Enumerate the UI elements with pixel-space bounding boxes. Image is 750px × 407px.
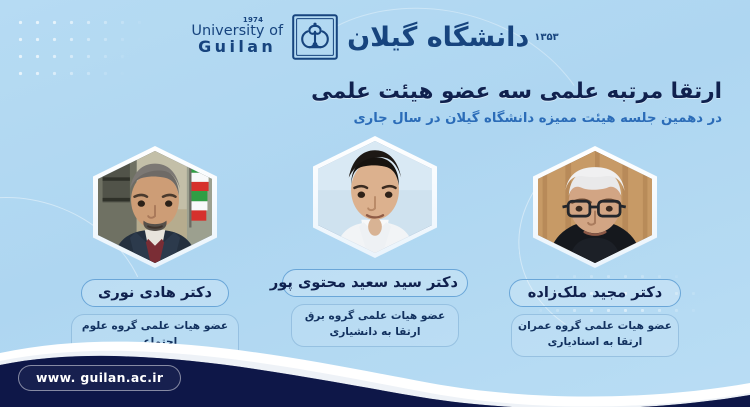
person-role-line1: عضو هیات علمی گروه برق [305,310,445,322]
page-title: ارتقا مرتبه علمی سه عضو هیئت علمی [22,78,722,106]
logo-founded-year-gregorian: 1974 [243,17,263,24]
photo-frame [533,146,657,268]
person-name: دکتر مجید ملک‌زاده [509,279,681,307]
guilan-emblem-icon [292,14,338,60]
photo-frame [313,136,437,258]
logo-persian-name: دانشگاه گیلان [347,24,529,51]
person-card: دکتر سید سعید محتوی پور عضو هیات علمی گر… [284,136,466,347]
university-logo: 1974 University of Guilan ۱۳۵۳ دانشگاه گ… [0,7,750,67]
poster-canvas: 1974 University of Guilan ۱۳۵۳ دانشگاه گ… [0,0,750,407]
page-subtitle: در دهمین جلسه هیئت ممیزه دانشگاه گیلان د… [22,110,722,127]
logo-english-line2: Guilan [191,39,283,56]
title-block: ارتقا مرتبه علمی سه عضو هیئت علمی در دهم… [22,78,722,127]
logo-english-text: 1974 University of Guilan [191,18,283,56]
logo-founded-year-persian: ۱۳۵۳ [534,32,558,43]
website-url[interactable]: www. guilan.ac.ir [18,365,181,391]
person-name: دکتر هادی نوری [81,279,229,307]
photo-frame [93,146,217,268]
person-name: دکتر سید سعید محتوی پور [282,269,468,297]
logo-persian-text: ۱۳۵۳ دانشگاه گیلان [347,24,559,51]
